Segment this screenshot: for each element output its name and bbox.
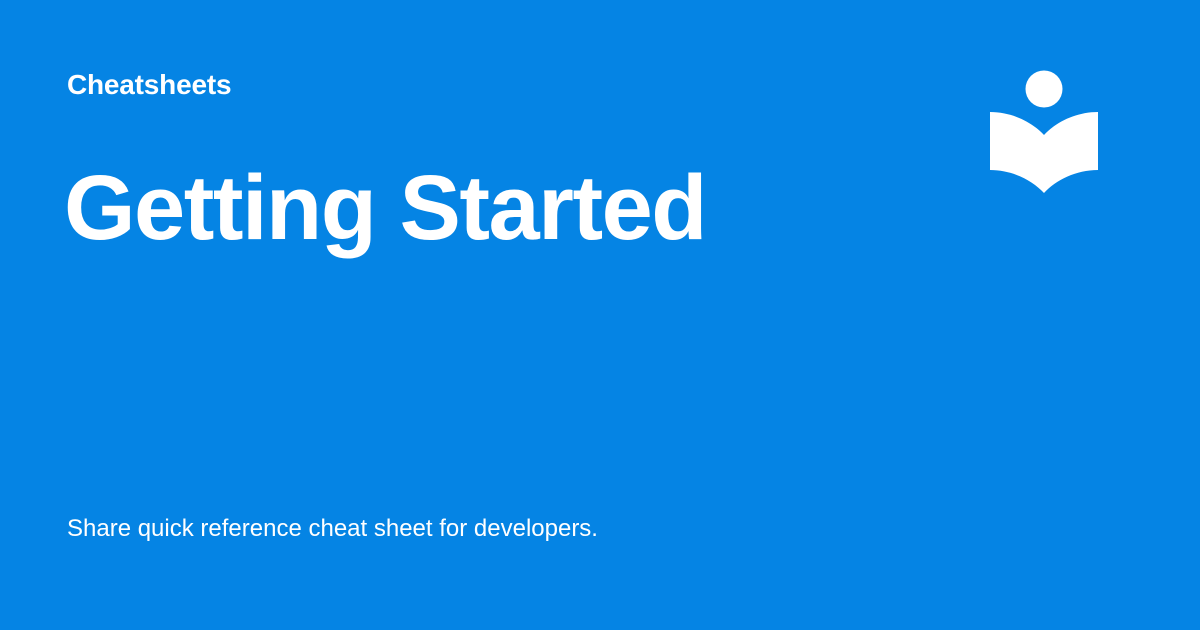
tagline: Share quick reference cheat sheet for de… <box>67 513 598 545</box>
open-book-reader-icon <box>986 64 1102 200</box>
og-banner-card: Cheatsheets Getting Started Share quick … <box>0 0 1200 630</box>
site-logo <box>986 64 1102 200</box>
brand-label: Cheatsheets <box>67 68 231 102</box>
reader-head-shape <box>1026 71 1063 108</box>
book-right-page-shape <box>1044 112 1098 193</box>
book-left-page-shape <box>990 112 1044 193</box>
page-title: Getting Started <box>64 160 706 257</box>
